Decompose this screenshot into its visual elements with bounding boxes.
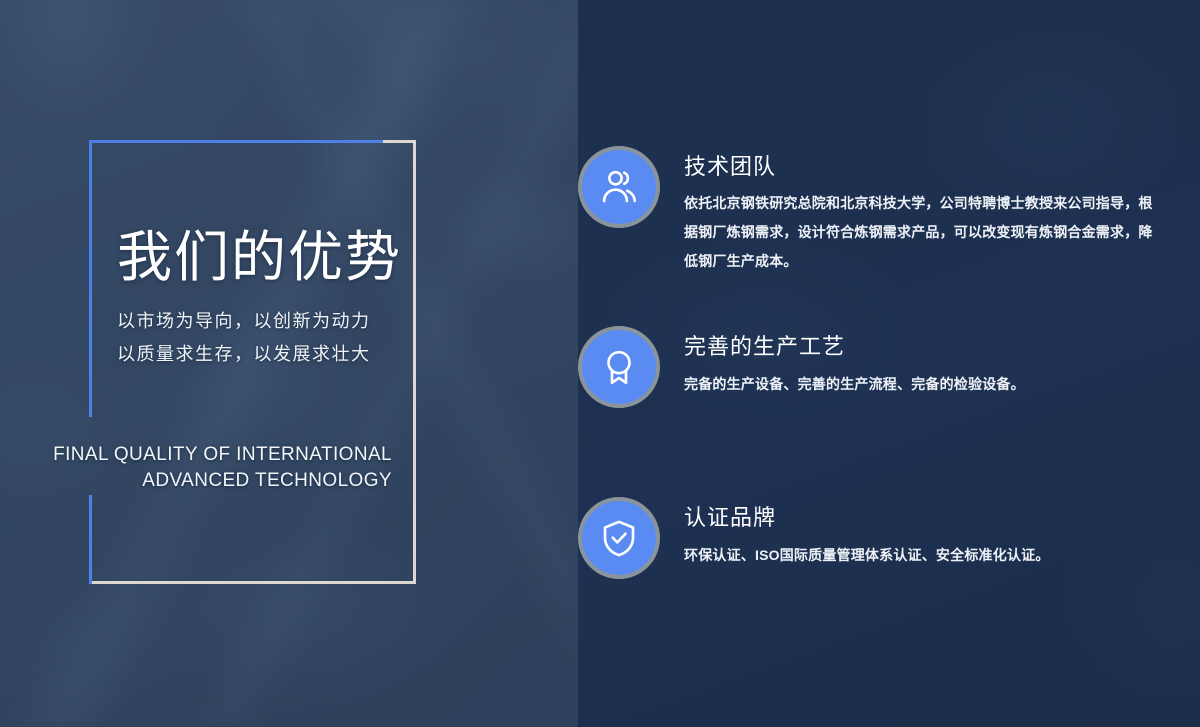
feature-text-block: 认证品牌 环保认证、ISO国际质量管理体系认证、安全标准化认证。 [684, 497, 1184, 570]
feature-icon-circle [578, 497, 660, 579]
hero-title: 我们的优势 [117, 227, 402, 287]
shield-check-icon [598, 517, 640, 559]
feature-title: 完善的生产工艺 [684, 334, 1184, 360]
hero-english-line-2: ADVANCED TECHNOLOGY [0, 468, 392, 494]
feature-text-block: 技术团队 依托北京钢铁研究总院和北京科技大学，公司特聘博士教授来公司指导，根据钢… [684, 146, 1184, 276]
feature-icon-circle [578, 326, 660, 408]
hero-subtitle-line-2: 以质量求生存，以发展求壮大 [117, 344, 371, 364]
feature-icon-circle [578, 146, 660, 228]
feature-title: 认证品牌 [684, 505, 1184, 531]
feature-description: 环保认证、ISO国际质量管理体系认证、安全标准化认证。 [684, 541, 1162, 570]
left-copy-block: 我们的优势 以市场为导向，以创新为动力 以质量求生存，以发展求壮大 FINAL … [0, 0, 578, 727]
feature-title: 技术团队 [684, 154, 1184, 180]
feature-description: 完备的生产设备、完善的生产流程、完备的检验设备。 [684, 370, 1162, 399]
feature-text-block: 完善的生产工艺 完备的生产设备、完善的生产流程、完备的检验设备。 [684, 326, 1184, 399]
left-hero-panel: 我们的优势 以市场为导向，以创新为动力 以质量求生存，以发展求壮大 FINAL … [0, 0, 578, 727]
advantages-banner: 我们的优势 以市场为导向，以创新为动力 以质量求生存，以发展求壮大 FINAL … [0, 0, 1200, 727]
right-features-panel: 技术团队 依托北京钢铁研究总院和北京科技大学，公司特聘博士教授来公司指导，根据钢… [578, 0, 1200, 727]
users-icon [598, 166, 640, 208]
award-medal-icon [598, 346, 640, 388]
feature-description: 依托北京钢铁研究总院和北京科技大学，公司特聘博士教授来公司指导，根据钢厂炼钢需求… [684, 189, 1162, 276]
hero-english-line-1: FINAL QUALITY OF INTERNATIONAL [0, 442, 392, 468]
hero-subtitle-line-1: 以市场为导向，以创新为动力 [117, 311, 371, 331]
